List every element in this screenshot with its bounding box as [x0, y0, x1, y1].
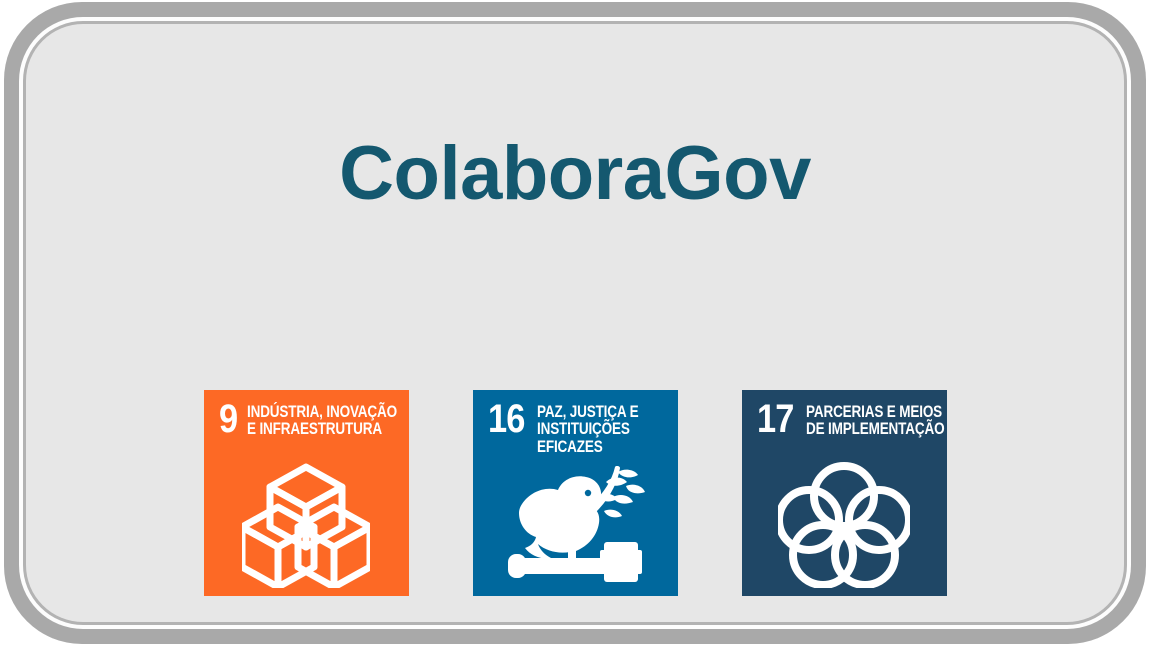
sdg-card-9[interactable]: 9 INDÚSTRIA, INOVAÇÃO E INFRAESTRUTURA: [204, 390, 409, 596]
frame-gap: ColaboraGov 9 INDÚSTRIA, INOVAÇÃO E INFR…: [19, 17, 1131, 629]
sdg-card-16-title-line-1: PAZ, JUSTIÇA E: [537, 404, 646, 421]
sdg-card-16-title: PAZ, JUSTIÇA E INSTITUIÇÕES EFICAZES: [537, 402, 646, 456]
sdg-card-16-art: [473, 466, 678, 588]
sdg-card-9-title-line-2: E INFRAESTRUTURA: [247, 421, 397, 438]
sdg-card-17-title: PARCERIAS E MEIOS DE IMPLEMENTAÇÃO: [806, 402, 944, 439]
sdg-card-9-art: [204, 462, 409, 588]
frame-inner-line: ColaboraGov 9 INDÚSTRIA, INOVAÇÃO E INFR…: [23, 21, 1127, 625]
interlocking-circles-icon: [778, 462, 910, 588]
sdg-card-17-title-line-1: PARCERIAS E MEIOS: [806, 404, 944, 421]
sdg-card-17[interactable]: 17 PARCERIAS E MEIOS DE IMPLEMENTAÇÃO: [742, 390, 947, 596]
sdg-card-16-title-line-3: EFICAZES: [537, 439, 646, 456]
page-title: ColaboraGov: [26, 136, 1124, 212]
slide-frame: ColaboraGov 9 INDÚSTRIA, INOVAÇÃO E INFR…: [4, 2, 1146, 644]
sdg-card-row: 9 INDÚSTRIA, INOVAÇÃO E INFRAESTRUTURA: [26, 390, 1124, 596]
sdg-card-17-number: 17: [757, 402, 794, 437]
sdg-card-9-title: INDÚSTRIA, INOVAÇÃO E INFRAESTRUTURA: [247, 402, 397, 439]
slide-canvas: ColaboraGov 9 INDÚSTRIA, INOVAÇÃO E INFR…: [26, 24, 1124, 622]
sdg-card-17-title-line-2: DE IMPLEMENTAÇÃO: [806, 421, 944, 438]
sdg-card-9-number: 9: [219, 402, 237, 437]
sdg-card-16-header: 16 PAZ, JUSTIÇA E INSTITUIÇÕES EFICAZES: [488, 402, 670, 456]
sdg-card-9-header: 9 INDÚSTRIA, INOVAÇÃO E INFRAESTRUTURA: [219, 402, 401, 439]
sdg-card-16-number: 16: [488, 402, 525, 437]
sdg-card-16-title-line-2: INSTITUIÇÕES: [537, 421, 646, 438]
cubes-icon: [242, 462, 370, 588]
sdg-card-17-header: 17 PARCERIAS E MEIOS DE IMPLEMENTAÇÃO: [757, 402, 939, 439]
dove-gavel-icon: [500, 466, 650, 588]
sdg-card-9-title-line-1: INDÚSTRIA, INOVAÇÃO: [247, 404, 397, 421]
sdg-card-16[interactable]: 16 PAZ, JUSTIÇA E INSTITUIÇÕES EFICAZES: [473, 390, 678, 596]
sdg-card-17-art: [742, 462, 947, 588]
